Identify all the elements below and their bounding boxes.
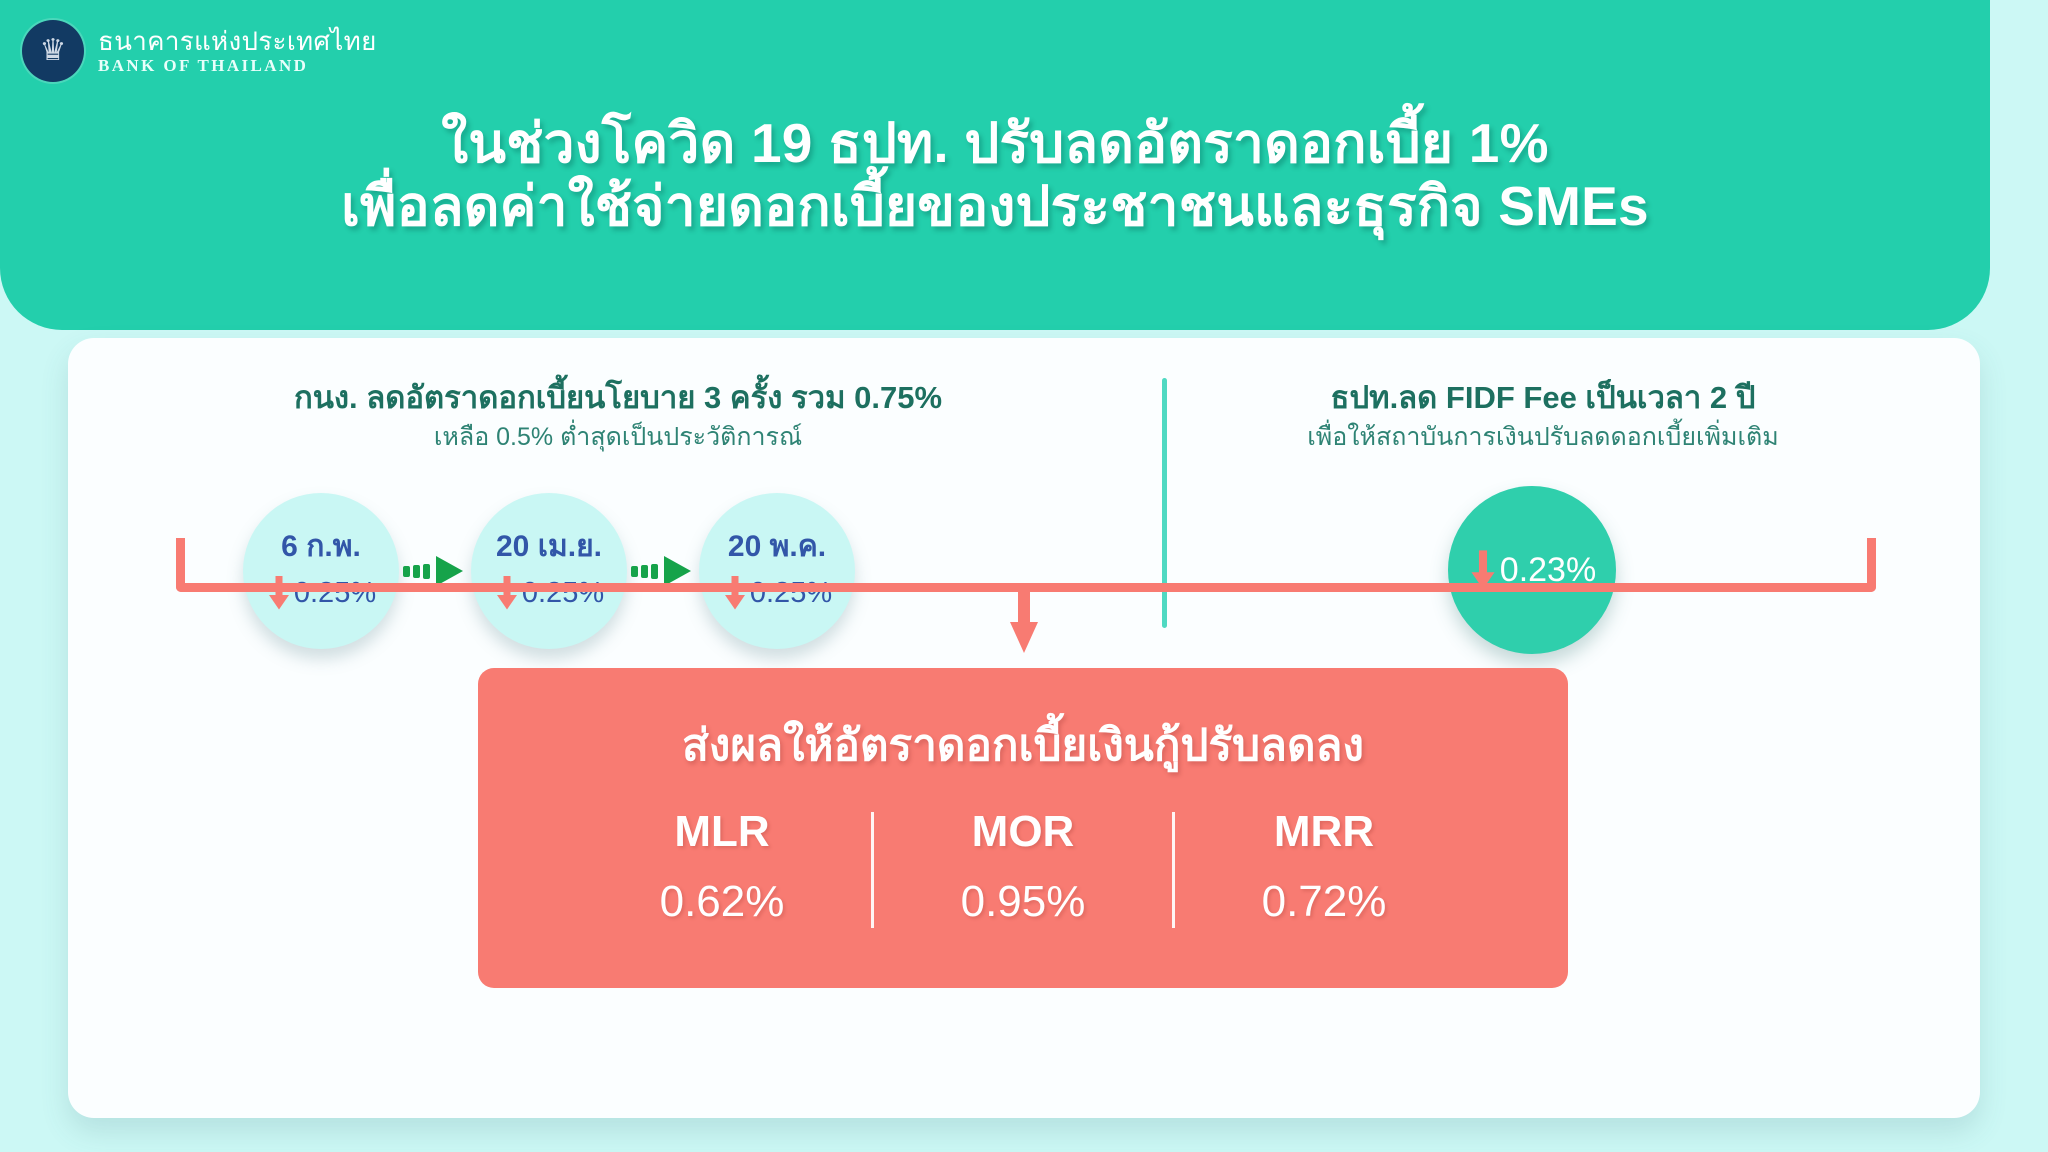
right-panel-subtitle: เพื่อให้สถาบันการเงินปรับลดดอกเบี้ยเพิ่ม…	[1148, 423, 1938, 453]
rate-name: MLR	[674, 810, 769, 854]
right-panel-heading: ธปท.ลด FIDF Fee เป็นเวลา 2 ปี เพื่อให้สถ…	[1148, 380, 1938, 452]
rate-value: 0.72%	[1262, 880, 1387, 924]
rate-divider	[1172, 812, 1175, 928]
seal-figure-glyph: ♛	[40, 36, 67, 66]
rate-divider	[871, 812, 874, 928]
rate-value: 0.62%	[660, 880, 785, 924]
logo-name-english: BANK OF THAILAND	[98, 57, 377, 74]
content-card: กนง. ลดอัตราดอกเบี้ยนโยบาย 3 ครั้ง รวม 0…	[68, 338, 1980, 1118]
rate-cell: MOR 0.95%	[874, 810, 1172, 924]
right-panel-title: ธปท.ลด FIDF Fee เป็นเวลา 2 ปี	[1148, 380, 1938, 417]
left-panel-title: กนง. ลดอัตราดอกเบี้ยนโยบาย 3 ครั้ง รวม 0…	[108, 380, 1128, 417]
result-title: ส่งผลให้อัตราดอกเบี้ยเงินกู้ปรับลดลง	[682, 710, 1364, 780]
page-title: ในช่วงโควิด 19 ธปท. ปรับลดอัตราดอกเบี้ย …	[0, 112, 1990, 237]
rate-cell: MLR 0.62%	[573, 810, 871, 924]
bot-seal-icon: ♛	[22, 20, 84, 82]
title-line-2: เพื่อลดค่าใช้จ่ายดอกเบี้ยของประชาชนและธุ…	[0, 175, 1990, 238]
logo-text: ธนาคารแห่งประเทศไทย BANK OF THAILAND	[98, 28, 377, 74]
rate-name: MRR	[1274, 810, 1374, 854]
title-line-1: ในช่วงโควิด 19 ธปท. ปรับลดอัตราดอกเบี้ย …	[0, 112, 1990, 175]
infographic-root: ♛ ธนาคารแห่งประเทศไทย BANK OF THAILAND ใ…	[0, 0, 2048, 1152]
left-panel-heading: กนง. ลดอัตราดอกเบี้ยนโยบาย 3 ครั้ง รวม 0…	[108, 380, 1128, 452]
summary-bracket	[176, 538, 1876, 592]
rate-value: 0.95%	[961, 880, 1086, 924]
result-box: ส่งผลให้อัตราดอกเบี้ยเงินกู้ปรับลดลง MLR…	[478, 668, 1568, 988]
rate-name: MOR	[972, 810, 1075, 854]
left-panel-subtitle: เหลือ 0.5% ต่ำสุดเป็นประวัติการณ์	[108, 423, 1128, 453]
logo-name-thai: ธนาคารแห่งประเทศไทย	[98, 28, 377, 55]
bot-logo: ♛ ธนาคารแห่งประเทศไทย BANK OF THAILAND	[22, 20, 377, 82]
arrow-down-icon	[1004, 586, 1044, 654]
rate-cell: MRR 0.72%	[1175, 810, 1473, 924]
lending-rate-grid: MLR 0.62% MOR 0.95% MRR 0.72%	[573, 810, 1473, 924]
header-band: ♛ ธนาคารแห่งประเทศไทย BANK OF THAILAND ใ…	[0, 0, 1990, 330]
